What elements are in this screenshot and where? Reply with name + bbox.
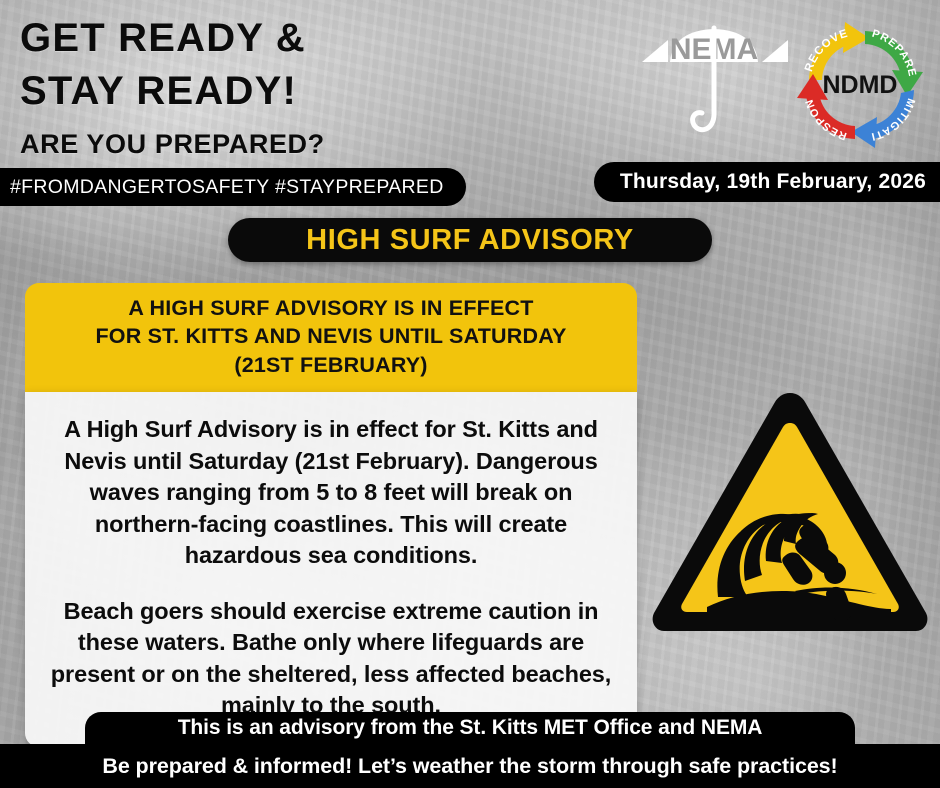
advisory-poster: GET READY & STAY READY! ARE YOU PREPARED…	[0, 0, 940, 788]
date-text: Thursday, 19th February, 2026	[620, 170, 926, 194]
banner-line-3: (21ST FEBRUARY)	[39, 351, 623, 379]
main-headline: GET READY & STAY READY! ARE YOU PREPARED…	[20, 18, 325, 158]
footer-line-2: Be prepared & informed! Let’s weather th…	[102, 754, 837, 779]
headline-question: ARE YOU PREPARED?	[20, 131, 325, 159]
high-surf-warning-sign-icon	[645, 385, 935, 643]
hashtag-badge: #FROMDANGERTOSAFETY #STAYPREPARED	[0, 168, 466, 206]
advisory-title-badge: HIGH SURF ADVISORY	[228, 218, 712, 262]
ndmd-center-label: NDMD	[823, 71, 898, 99]
headline-line-2: STAY READY!	[20, 71, 325, 112]
advisory-card: A HIGH SURF ADVISORY IS IN EFFECT FOR ST…	[25, 283, 637, 747]
date-badge: Thursday, 19th February, 2026	[594, 162, 940, 202]
advisory-paragraph-2: Beach goers should exercise extreme caut…	[49, 596, 613, 722]
footer-bar: Be prepared & informed! Let’s weather th…	[0, 744, 940, 788]
hashtag-text: #FROMDANGERTOSAFETY #STAYPREPARED	[10, 176, 444, 199]
advisory-banner: A HIGH SURF ADVISORY IS IN EFFECT FOR ST…	[25, 283, 637, 392]
banner-line-1: A HIGH SURF ADVISORY IS IN EFFECT	[39, 294, 623, 322]
footer-line-1: This is an advisory from the St. Kitts M…	[178, 716, 763, 740]
advisory-title-text: HIGH SURF ADVISORY	[306, 224, 634, 257]
advisory-paragraph-1: A High Surf Advisory is in effect for St…	[49, 414, 613, 571]
footer-top-pill: This is an advisory from the St. Kitts M…	[85, 712, 855, 744]
ndmd-cycle-logo: RECOVERY PREPAREDNESS MITIGATION	[789, 14, 931, 156]
nema-logo: NEMA	[638, 22, 790, 144]
headline-line-1: GET READY &	[20, 18, 325, 59]
advisory-body: A High Surf Advisory is in effect for St…	[25, 392, 637, 747]
banner-line-2: FOR ST. KITTS AND NEVIS UNTIL SATURDAY	[39, 322, 623, 350]
